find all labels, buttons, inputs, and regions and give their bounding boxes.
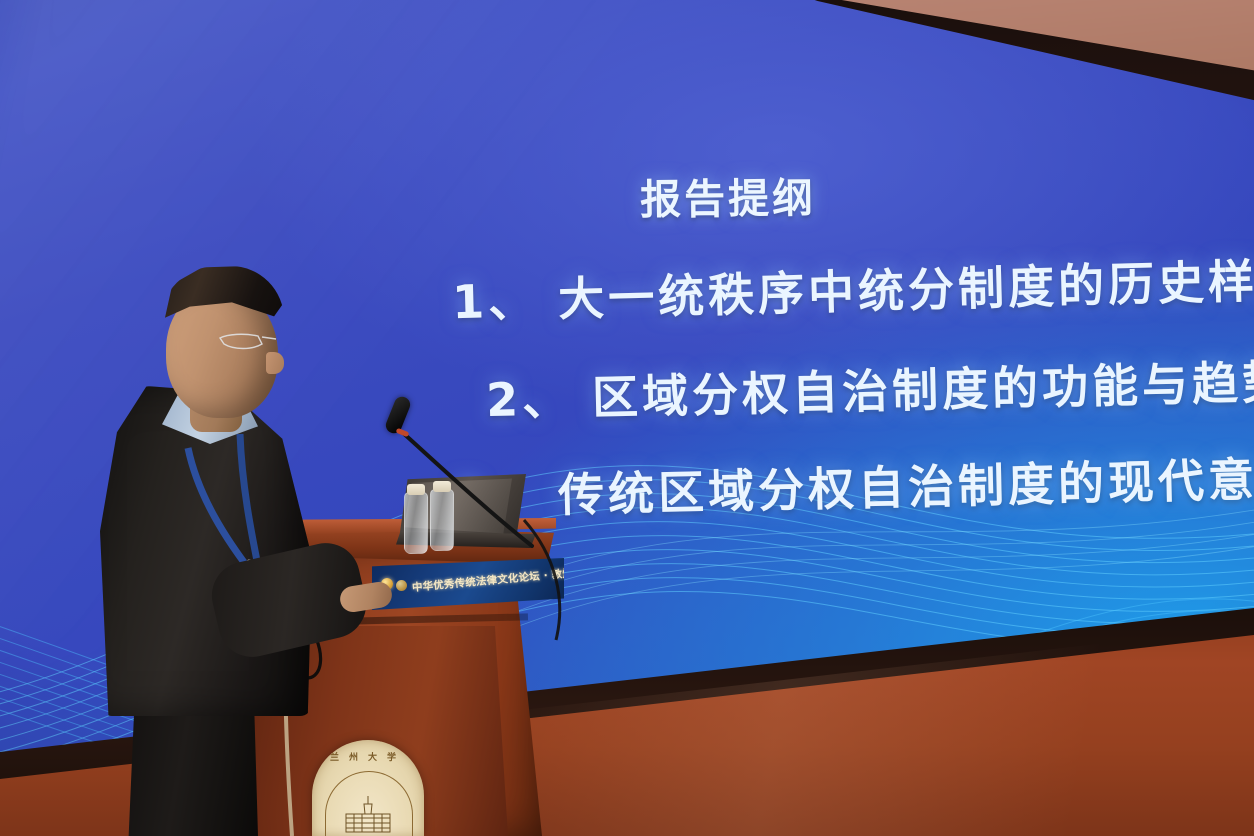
presentation-photo: 报告提纲 1、 大一统秩序中统分制度的历史样态 2、 区域分权自治制度的功能与趋… xyxy=(0,0,1254,836)
speaker xyxy=(90,196,380,836)
lanyard xyxy=(90,196,380,836)
